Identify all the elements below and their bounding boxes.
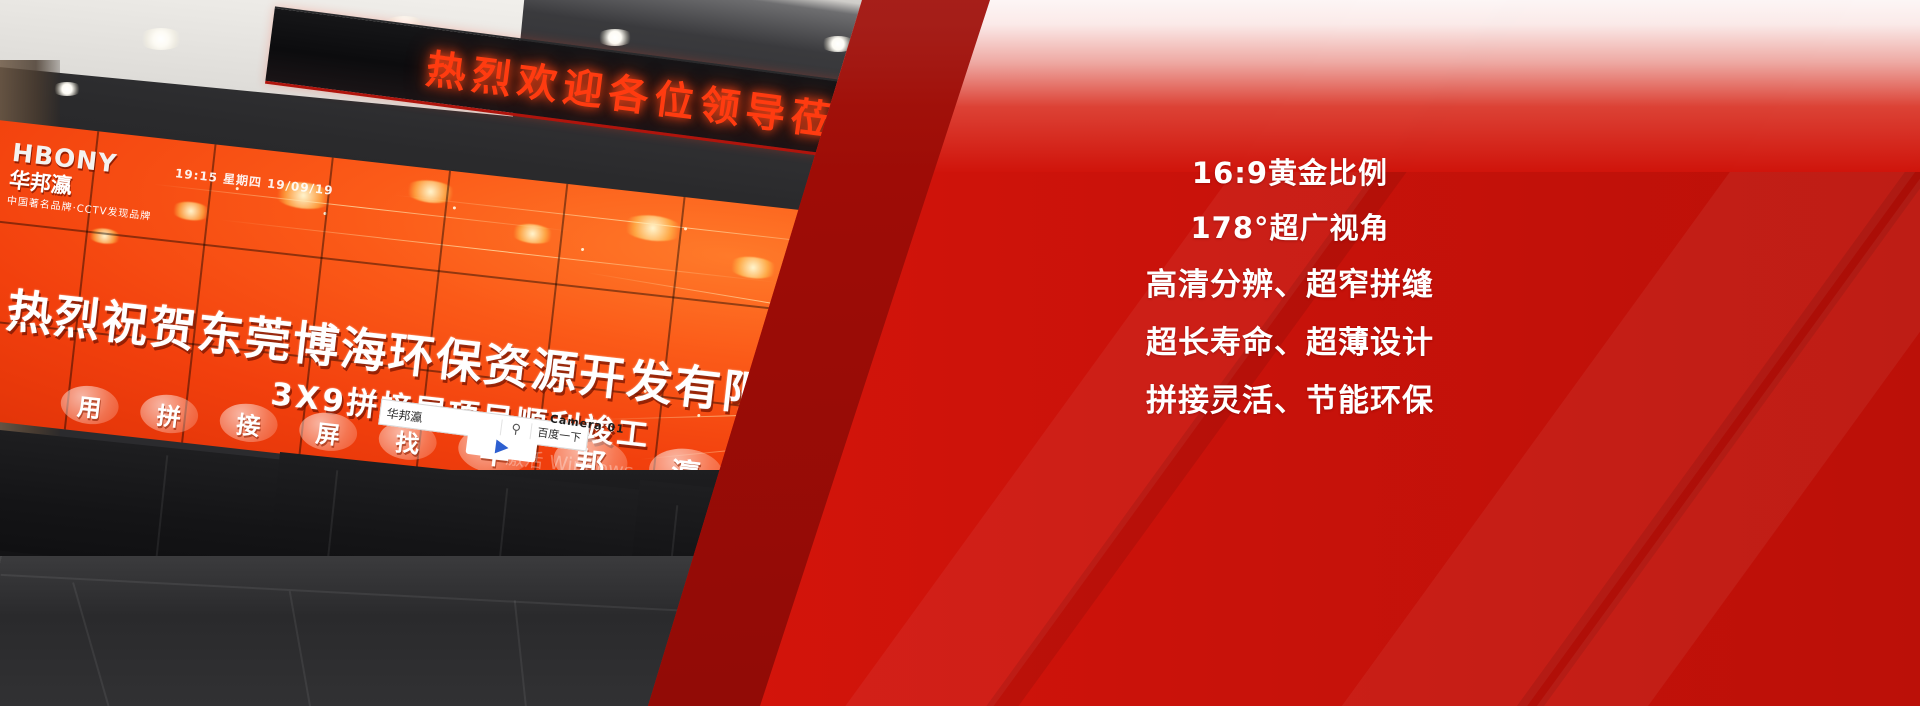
- screen-brand-tagline: 中国著名品牌·CCTV发现品牌: [6, 192, 152, 223]
- feature-item: 高清分辨、超窄拼缝: [1075, 260, 1505, 310]
- bokeh-light: [87, 227, 122, 246]
- ceiling-light: [138, 28, 184, 50]
- sparkle: [581, 248, 584, 251]
- bokeh-light: [621, 212, 685, 244]
- ceiling-light: [596, 29, 634, 46]
- screen-clock: 19:15 星期四 19/09/19: [174, 164, 334, 199]
- slogan-pill: 接: [218, 401, 280, 445]
- hotline-number: 400-6899-985: [241, 466, 434, 513]
- feature-item: 超长寿命、超薄设计: [1075, 318, 1505, 368]
- feature-item: 拼接灵活、节能环保: [1075, 376, 1505, 426]
- cert-badge-iso14001: ISO 14001: [194, 500, 304, 521]
- ceiling-light: [52, 82, 82, 96]
- cert-badge-iso9001: ISO 9001: [84, 488, 194, 509]
- sparkle: [453, 206, 456, 209]
- slogan-pill: 屏: [297, 410, 359, 454]
- cert-badge-fcc: FCC: [521, 532, 632, 534]
- feature-item: 178°超广视角: [1075, 205, 1505, 252]
- feature-item: 16:9黄金比例: [1075, 150, 1505, 197]
- cert-badge-ce: C E: [303, 508, 414, 535]
- cert-badge-rohs: ROHS: [412, 520, 523, 534]
- slogan-pill: 用: [59, 383, 121, 427]
- feature-list: 16:9黄金比例 178°超广视角 高清分辨、超窄拼缝 超长寿命、超薄设计 拼接…: [1075, 150, 1505, 427]
- telephone-icon: ☎: [206, 463, 233, 490]
- promo-banner: 热烈欢迎各位领导莅临指导: [0, 0, 1920, 706]
- slogan-pill: 拼: [138, 392, 200, 436]
- sparkle: [684, 227, 687, 230]
